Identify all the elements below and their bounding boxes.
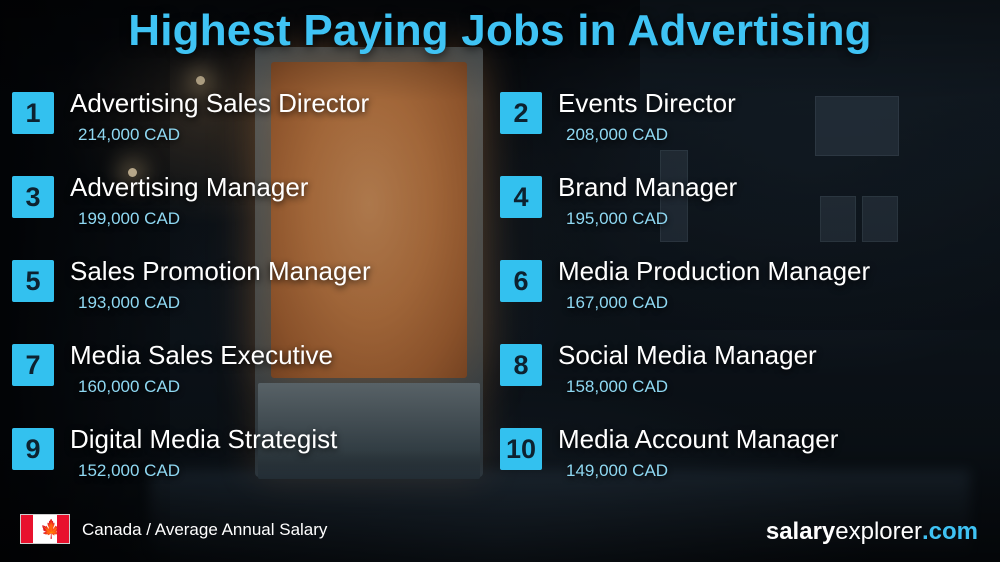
job-salary: 195,000 CAD	[566, 209, 668, 229]
maple-leaf-icon: 🍁	[40, 520, 52, 538]
jobs-column-right: 2 Events Director 208,000 CAD 4 Brand Ma…	[500, 84, 980, 504]
job-salary: 208,000 CAD	[566, 125, 668, 145]
brand-second: explorer	[835, 518, 922, 545]
list-item[interactable]: 1 Advertising Sales Director 214,000 CAD	[12, 84, 492, 168]
rank-badge: 8	[500, 344, 542, 386]
job-salary: 152,000 CAD	[78, 461, 180, 481]
job-title: Media Account Manager	[558, 424, 838, 455]
job-title: Sales Promotion Manager	[70, 256, 371, 287]
rank-badge: 4	[500, 176, 542, 218]
rank-badge: 1	[12, 92, 54, 134]
poster: Highest Paying Jobs in Advertising 1 Adv…	[0, 0, 1000, 562]
rank-badge: 7	[12, 344, 54, 386]
job-salary: 149,000 CAD	[566, 461, 668, 481]
job-title: Advertising Manager	[70, 172, 308, 203]
job-title: Media Sales Executive	[70, 340, 333, 371]
job-salary: 199,000 CAD	[78, 209, 180, 229]
job-salary: 193,000 CAD	[78, 293, 180, 313]
jobs-list: 1 Advertising Sales Director 214,000 CAD…	[0, 84, 1000, 504]
rank-badge: 6	[500, 260, 542, 302]
job-salary: 167,000 CAD	[566, 293, 668, 313]
list-item[interactable]: 4 Brand Manager 195,000 CAD	[500, 168, 980, 252]
brand-logo[interactable]: salaryexplorer.com	[766, 518, 978, 546]
list-item[interactable]: 3 Advertising Manager 199,000 CAD	[12, 168, 492, 252]
job-salary: 158,000 CAD	[566, 377, 668, 397]
rank-badge: 5	[12, 260, 54, 302]
footer-note: Canada / Average Annual Salary	[82, 520, 327, 540]
job-title: Events Director	[558, 88, 736, 119]
job-title: Brand Manager	[558, 172, 737, 203]
rank-badge: 3	[12, 176, 54, 218]
job-title: Social Media Manager	[558, 340, 817, 371]
list-item[interactable]: 10 Media Account Manager 149,000 CAD	[500, 420, 980, 504]
job-salary: 160,000 CAD	[78, 377, 180, 397]
job-salary: 214,000 CAD	[78, 125, 180, 145]
brand-first: salary	[766, 518, 835, 545]
list-item[interactable]: 6 Media Production Manager 167,000 CAD	[500, 252, 980, 336]
rank-badge: 9	[12, 428, 54, 470]
canada-flag-icon: 🍁	[20, 514, 70, 544]
footer: 🍁 Canada / Average Annual Salary salarye…	[0, 504, 1000, 562]
rank-badge: 10	[500, 428, 542, 470]
page-title: Highest Paying Jobs in Advertising	[0, 6, 1000, 56]
job-title: Advertising Sales Director	[70, 88, 369, 119]
job-title: Digital Media Strategist	[70, 424, 337, 455]
rank-badge: 2	[500, 92, 542, 134]
brand-tld: .com	[922, 518, 978, 545]
list-item[interactable]: 8 Social Media Manager 158,000 CAD	[500, 336, 980, 420]
list-item[interactable]: 7 Media Sales Executive 160,000 CAD	[12, 336, 492, 420]
list-item[interactable]: 5 Sales Promotion Manager 193,000 CAD	[12, 252, 492, 336]
jobs-column-left: 1 Advertising Sales Director 214,000 CAD…	[12, 84, 492, 504]
list-item[interactable]: 9 Digital Media Strategist 152,000 CAD	[12, 420, 492, 504]
job-title: Media Production Manager	[558, 256, 870, 287]
list-item[interactable]: 2 Events Director 208,000 CAD	[500, 84, 980, 168]
